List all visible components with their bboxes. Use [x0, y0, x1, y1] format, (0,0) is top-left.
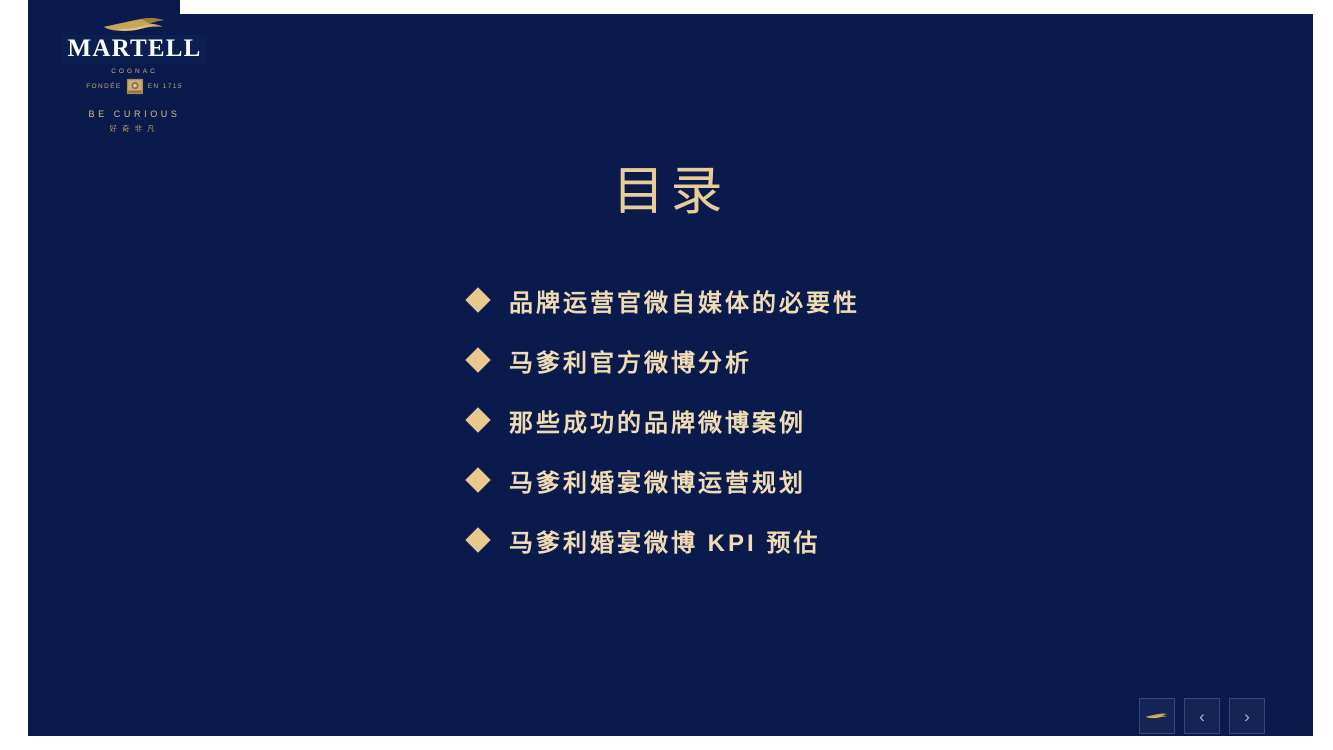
previous-slide-button[interactable]: ‹: [1184, 698, 1220, 734]
martell-logo: MARTELL COGNAC FONDÉE EN 1715 BE CURIOUS…: [57, 16, 212, 134]
diamond-bullet-icon: [465, 347, 490, 372]
martell-tagline: BE CURIOUS: [57, 109, 212, 119]
martell-crest-icon: [126, 78, 144, 95]
chevron-left-icon: ‹: [1199, 708, 1205, 725]
chevron-right-icon: ›: [1244, 708, 1250, 725]
diamond-bullet-icon: [465, 467, 490, 492]
next-slide-button[interactable]: ›: [1229, 698, 1265, 734]
list-item[interactable]: 马爹利官方微博分析: [469, 330, 1169, 390]
diamond-bullet-icon: [465, 407, 490, 432]
page-title: 目录: [28, 164, 1313, 221]
agenda-list: 品牌运营官微自媒体的必要性 马爹利官方微博分析 那些成功的品牌微博案例 马爹利婚…: [469, 270, 1169, 570]
martell-wordmark-plate: MARTELL: [62, 35, 208, 64]
list-item[interactable]: 马爹利婚宴微博运营规划: [469, 450, 1169, 510]
agenda-item-label: 马爹利婚宴微博 KPI 预估: [509, 523, 820, 558]
martell-founded-row: FONDÉE EN 1715: [57, 78, 212, 95]
presentation-slide: MARTELL COGNAC FONDÉE EN 1715 BE CURIOUS…: [28, 14, 1313, 736]
agenda-item-label: 马爹利官方微博分析: [509, 343, 752, 378]
list-item[interactable]: 那些成功的品牌微博案例: [469, 390, 1169, 450]
diamond-bullet-icon: [465, 287, 490, 312]
martell-wordmark: MARTELL: [68, 36, 202, 62]
agenda-item-label: 品牌运营官微自媒体的必要性: [509, 283, 860, 318]
martell-cognac-label: COGNAC: [57, 68, 212, 75]
martell-swift-icon: [99, 16, 171, 34]
founded-right-text: EN 1715: [148, 83, 183, 90]
martell-swift-icon: [1144, 709, 1170, 723]
list-item[interactable]: 品牌运营官微自媒体的必要性: [469, 270, 1169, 330]
founded-left-text: FONDÉE: [86, 83, 122, 90]
list-item[interactable]: 马爹利婚宴微博 KPI 预估: [469, 510, 1169, 570]
agenda-item-label: 那些成功的品牌微博案例: [509, 403, 806, 438]
slide-navigation: ‹ ›: [1139, 698, 1265, 734]
diamond-bullet-icon: [465, 527, 490, 552]
brand-home-button[interactable]: [1139, 698, 1175, 734]
martell-tagline-chinese: 好奇非凡: [57, 123, 212, 134]
agenda-item-label: 马爹利婚宴微博运营规划: [509, 463, 806, 498]
